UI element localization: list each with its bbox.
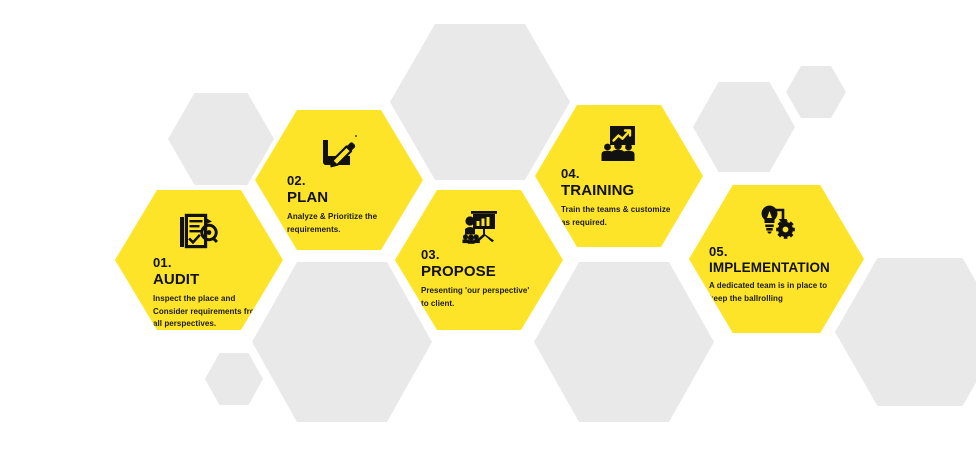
step-number: 03. (421, 248, 555, 263)
step-card-text: 02. PLAN Analyze & Prioritize the requir… (255, 174, 423, 236)
step-description-line: A dedicated team is in place to (709, 280, 856, 292)
step-card-text: 05. IMPLEMENTATION A dedicated team is i… (689, 245, 864, 305)
step-card-plan[interactable]: 02. PLAN Analyze & Prioritize the requir… (255, 110, 423, 250)
step-card-training[interactable]: 04. TRAINING Train the teams & customize… (535, 105, 703, 247)
step-description-line: all perspectives. (153, 318, 275, 330)
step-description-line: Presenting 'our perspective' (421, 285, 555, 297)
step-description-line: Inspect the place and (153, 293, 275, 305)
step-description-line: requirements. (287, 224, 415, 236)
step-card-content: 04. TRAINING Train the teams & customize… (535, 105, 703, 247)
decor-hexagon-8 (835, 258, 976, 406)
step-card-content: 03. PROPOSE Presenting 'our perspective'… (395, 190, 563, 330)
step-description: A dedicated team is in place to keep the… (709, 280, 856, 305)
pencil-writing-icon (317, 130, 361, 172)
decor-hexagon-7 (534, 262, 714, 422)
step-card-text: 03. PROPOSE Presenting 'our perspective'… (395, 248, 563, 310)
step-description: Train the teams & customize as required. (561, 204, 695, 229)
step-title: IMPLEMENTATION (709, 260, 856, 276)
team-growth-chart-icon (597, 123, 641, 165)
step-number: 02. (287, 174, 415, 189)
lightbulb-gear-icon (755, 201, 799, 243)
step-card-content: 01. AUDIT Inspect the place and Consider… (115, 190, 283, 330)
step-description-line: to client. (421, 298, 555, 310)
step-card-implementation[interactable]: 05. IMPLEMENTATION A dedicated team is i… (689, 185, 864, 333)
step-title: TRAINING (561, 182, 695, 200)
infographic-canvas: 01. AUDIT Inspect the place and Consider… (0, 0, 976, 456)
decor-hexagon-3 (693, 82, 795, 172)
step-card-content: 02. PLAN Analyze & Prioritize the requir… (255, 110, 423, 250)
step-title: PROPOSE (421, 263, 555, 281)
decor-hexagon-1 (168, 93, 274, 185)
step-number: 01. (153, 256, 275, 271)
step-number: 04. (561, 167, 695, 182)
step-card-audit[interactable]: 01. AUDIT Inspect the place and Consider… (115, 190, 283, 330)
decor-hexagon-5 (252, 262, 432, 422)
step-description: Analyze & Prioritize the requirements. (287, 211, 415, 236)
step-card-text: 01. AUDIT Inspect the place and Consider… (115, 256, 283, 330)
step-card-text: 04. TRAINING Train the teams & customize… (535, 167, 703, 229)
decor-hexagon-4 (786, 66, 846, 118)
step-description-line: Analyze & Prioritize the (287, 211, 415, 223)
step-description-line: as required. (561, 217, 695, 229)
step-number: 05. (709, 245, 856, 260)
decor-hexagon-2 (390, 24, 570, 180)
document-magnifier-icon (177, 212, 221, 254)
step-description-line: Consider requirements from (153, 306, 275, 318)
step-title: PLAN (287, 189, 415, 207)
step-card-content: 05. IMPLEMENTATION A dedicated team is i… (689, 185, 864, 333)
step-title: AUDIT (153, 271, 275, 289)
step-description: Inspect the place and Consider requireme… (153, 293, 275, 330)
decor-hexagon-6 (205, 353, 263, 405)
step-description: Presenting 'our perspective' to client. (421, 285, 555, 310)
step-description-line: keep the ballrolling (709, 293, 856, 305)
step-description-line: Train the teams & customize (561, 204, 695, 216)
presentation-chart-icon (457, 206, 501, 248)
step-card-propose[interactable]: 03. PROPOSE Presenting 'our perspective'… (395, 190, 563, 330)
